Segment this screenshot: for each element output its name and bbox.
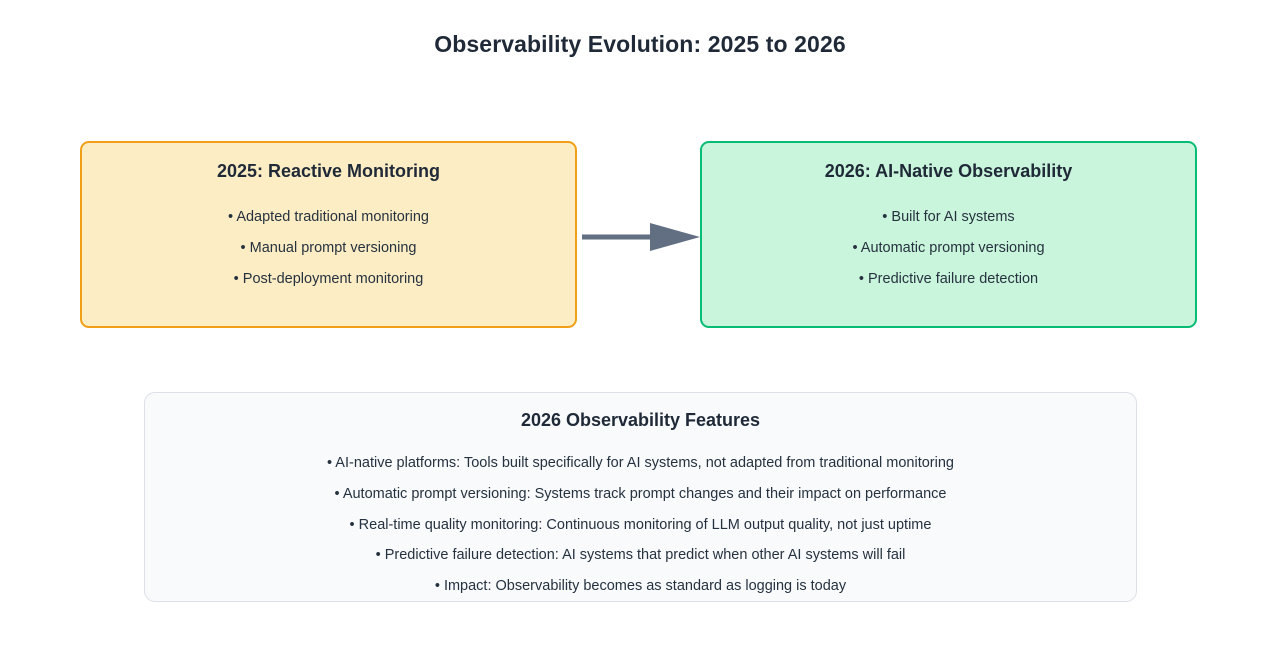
features-panel: 2026 Observability Features • AI-native … — [144, 392, 1137, 602]
page-title: Observability Evolution: 2025 to 2026 — [0, 31, 1280, 58]
feature-line-5: • Impact: Observability becomes as stand… — [145, 571, 1136, 602]
arrow-right-icon — [578, 218, 704, 256]
feature-line-1: • AI-native platforms: Tools built speci… — [145, 448, 1136, 479]
stage-box-2025-bullet-1: • Adapted traditional monitoring — [82, 202, 575, 233]
stage-box-2025-title: 2025: Reactive Monitoring — [82, 161, 575, 182]
stage-box-2026-bullet-1: • Built for AI systems — [702, 202, 1195, 233]
stage-box-2026-title: 2026: AI-Native Observability — [702, 161, 1195, 182]
stage-box-2026-bullet-3: • Predictive failure detection — [702, 264, 1195, 295]
features-panel-title: 2026 Observability Features — [145, 410, 1136, 431]
stage-box-2025[interactable]: 2025: Reactive Monitoring • Adapted trad… — [80, 141, 577, 328]
arrow-head — [650, 223, 700, 251]
feature-line-2: • Automatic prompt versioning: Systems t… — [145, 479, 1136, 510]
stage-box-2026-bullet-2: • Automatic prompt versioning — [702, 233, 1195, 264]
stage-box-2025-bullet-3: • Post-deployment monitoring — [82, 264, 575, 295]
stage-box-2025-bullet-2: • Manual prompt versioning — [82, 233, 575, 264]
feature-line-3: • Real-time quality monitoring: Continuo… — [145, 510, 1136, 541]
stage-box-2026[interactable]: 2026: AI-Native Observability • Built fo… — [700, 141, 1197, 328]
feature-line-4: • Predictive failure detection: AI syste… — [145, 540, 1136, 571]
